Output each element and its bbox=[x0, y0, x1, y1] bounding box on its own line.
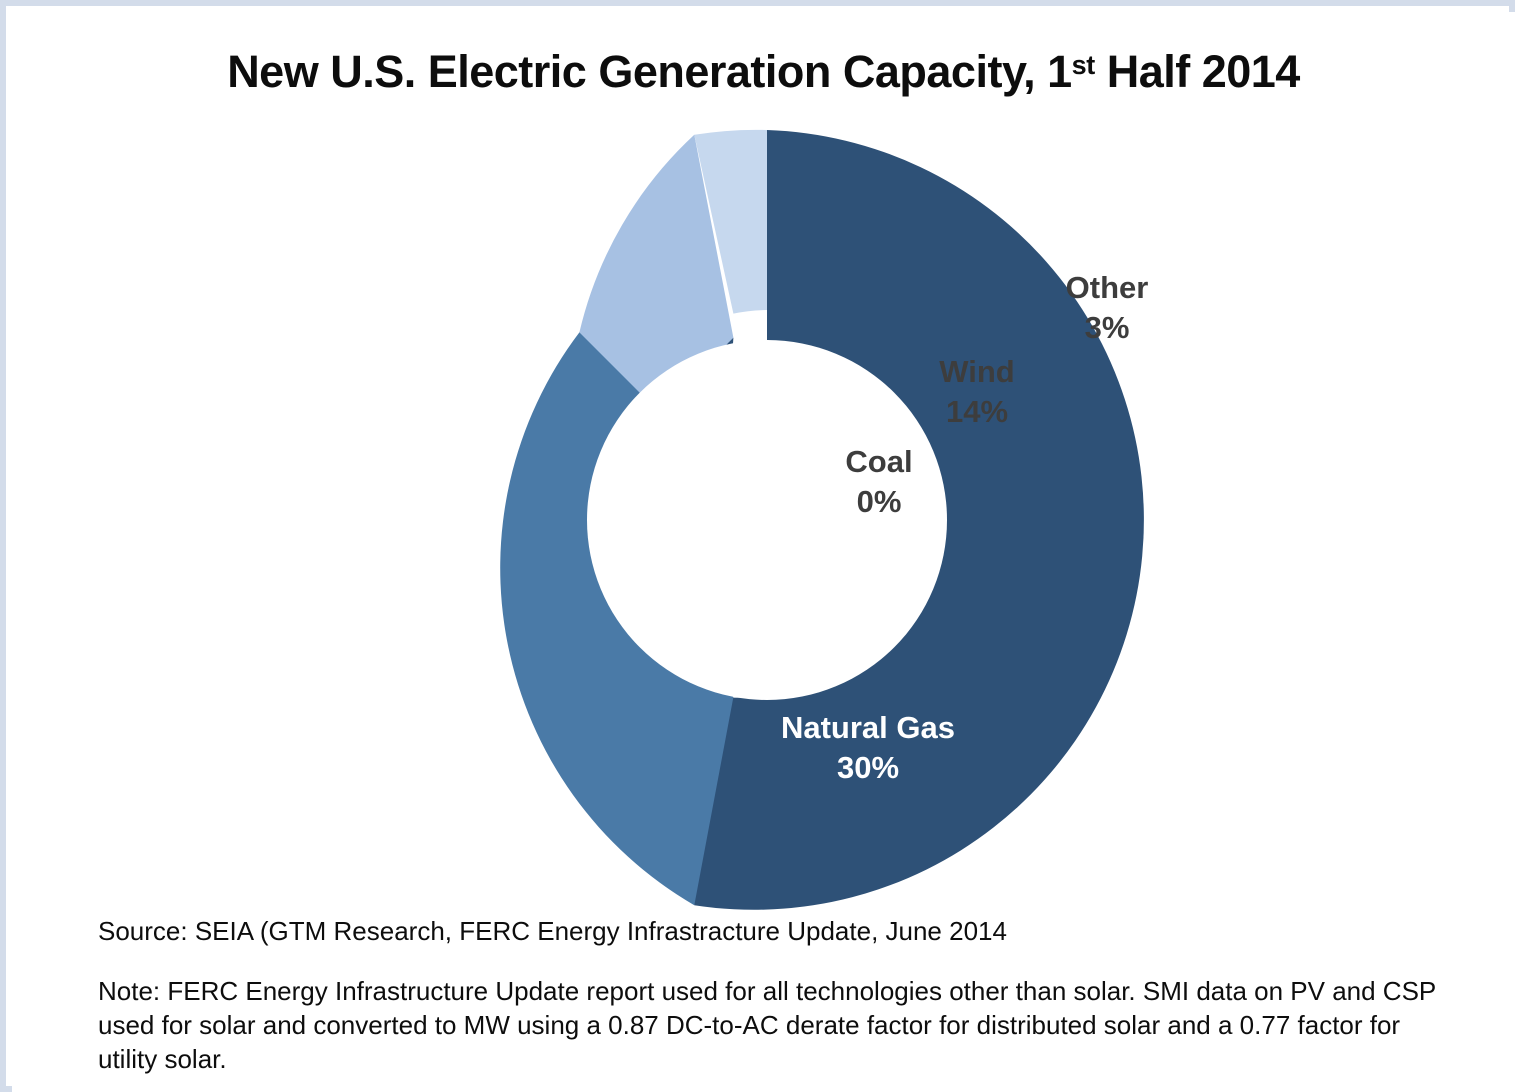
page-title-superscript: st bbox=[1072, 50, 1095, 80]
slice-label-solar: Solar 53% bbox=[1292, 608, 1515, 688]
page-title: New U.S. Electric Generation Capacity, 1… bbox=[12, 46, 1515, 98]
methodology-note: Note: FERC Energy Infrastructure Update … bbox=[98, 974, 1446, 1076]
page-title-tail: Half 2014 bbox=[1095, 46, 1300, 97]
slice-label-solar-value: 53% bbox=[1292, 648, 1515, 688]
donut-hole bbox=[587, 340, 947, 700]
source-note: Source: SEIA (GTM Research, FERC Energy … bbox=[98, 914, 1438, 948]
slice-label-solar-name: Solar bbox=[1292, 608, 1515, 648]
donut-chart-svg bbox=[367, 120, 1167, 920]
donut-chart: Solar 53% Natural Gas 30% Coal 0% Wind 1… bbox=[367, 120, 1167, 920]
slide-frame: New U.S. Electric Generation Capacity, 1… bbox=[0, 0, 1515, 1092]
slide-canvas: New U.S. Electric Generation Capacity, 1… bbox=[12, 12, 1515, 1092]
page-title-main: New U.S. Electric Generation Capacity, 1 bbox=[227, 46, 1071, 97]
